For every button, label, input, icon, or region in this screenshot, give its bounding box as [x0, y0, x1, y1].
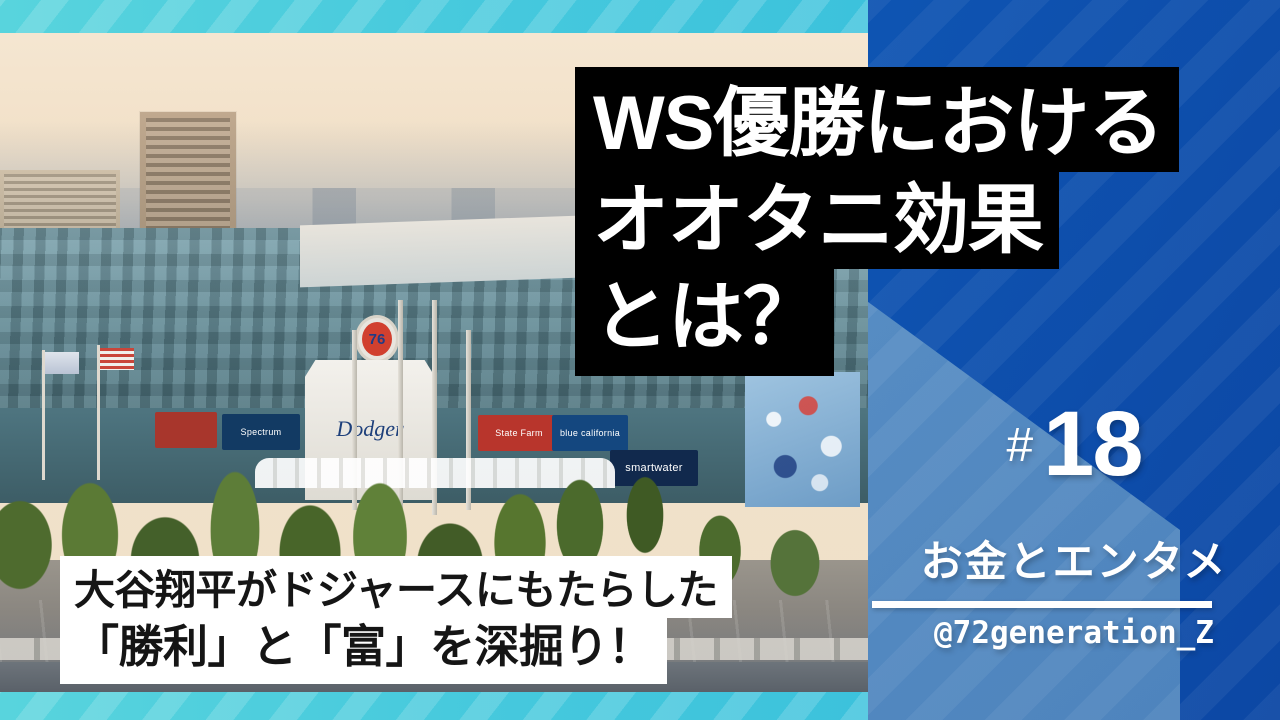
photo-ad-blue-california: blue california: [552, 415, 628, 451]
caption-line-2: 「勝利」と「富」を深掘り！: [60, 618, 667, 684]
hash-symbol: #: [1006, 419, 1033, 472]
channel-name: お金とエンタメ: [868, 528, 1280, 589]
rail-divider: [872, 601, 1212, 608]
photo-scoreboard-label: Dodger: [305, 416, 435, 442]
photo-76-logo-text: 76: [362, 322, 392, 356]
title-line-3: とは？: [575, 269, 834, 376]
caption-line-1: 大谷翔平がドジャースにもたらした: [60, 556, 732, 618]
photo-flag-1: [45, 352, 79, 374]
photo-ad-state-farm: State Farm: [478, 415, 560, 451]
photo-76-logo: 76: [358, 318, 396, 360]
photo-building-tower: [140, 112, 236, 232]
channel-handle: @72generation_Z: [868, 615, 1280, 651]
photo-ad-spectrum: Spectrum: [222, 414, 300, 450]
episode-number-block: #18: [868, 392, 1280, 497]
bottom-accent-band: [0, 692, 868, 720]
right-rail: #18 お金とエンタメ @72generation_Z: [868, 0, 1280, 720]
photo-building-left: [0, 170, 120, 232]
youtube-thumbnail: 76 Dodger Spectrum State Farm blue calif…: [0, 0, 1280, 720]
episode-number: 18: [1043, 393, 1141, 495]
caption-block: 大谷翔平がドジャースにもたらした 「勝利」と「富」を深掘り！: [60, 556, 732, 684]
photo-flag-us: [100, 348, 134, 370]
top-accent-band: [0, 0, 868, 33]
photo-ad-generic: [155, 412, 217, 448]
